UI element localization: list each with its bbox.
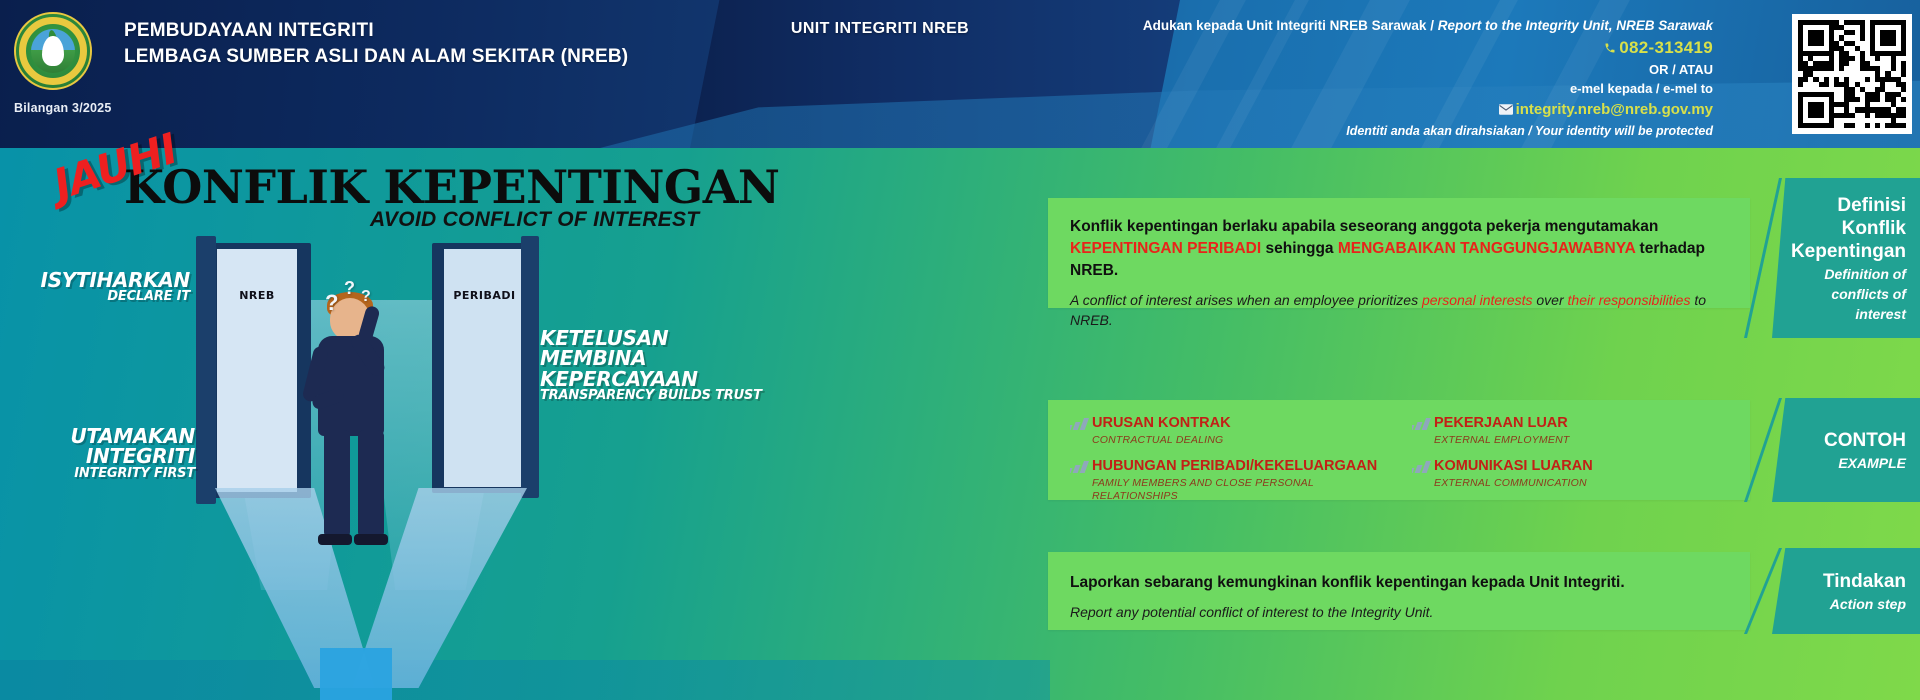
example-grid: URUSAN KONTRAK CONTRACTUAL DEALING HUBUN… [1070,414,1728,512]
action-card: Laporkan sebarang kemungkinan konflik ke… [1048,552,1750,630]
qr-code[interactable] [1792,14,1912,134]
example-tab: CONTOH EXAMPLE [1772,398,1920,502]
example-title-ms: KOMUNIKASI LUARAN [1434,458,1593,474]
definition-en-b: over [1533,292,1568,308]
door-leaf [196,236,216,504]
example-card-body: URUSAN KONTRAK CONTRACTUAL DEALING HUBUN… [1048,400,1750,526]
person-shoe-right [354,534,388,545]
floor-beam-center [320,648,392,700]
definition-ms-red1: KEPENTINGAN PERIBADI [1070,240,1261,257]
example-text: URUSAN KONTRAK CONTRACTUAL DEALING [1092,414,1231,448]
example-item: KOMUNIKASI LUARAN EXTERNAL COMMUNICATION [1412,457,1728,491]
phone-number: 082-313419 [1619,38,1713,57]
caption-transparency: KETELUSAN MEMBINA KEPERCAYAAN TRANSPAREN… [540,328,770,402]
phone-icon [1604,37,1616,62]
caption-declare-ms: ISYTIHARKAN [0,270,190,290]
hero-title: KONFLIK KEPENTINGAN [124,160,779,214]
caption-transparency-ms2: KEPERCAYAAN [540,369,770,389]
definition-ms-red2: MENGABAIKAN TANGGUNGJAWABNYA [1338,240,1635,257]
caption-integrity-ms: UTAMAKAN INTEGRITI [0,426,195,467]
question-mark-1: ? [325,290,338,316]
org-title: PEMBUDAYAAN INTEGRITI LEMBAGA SUMBER ASL… [124,18,628,70]
definition-tab-ms1: Definisi [1837,194,1906,217]
example-card: URUSAN KONTRAK CONTRACTUAL DEALING HUBUN… [1048,400,1750,500]
example-item: PEKERJAAN LUAR EXTERNAL EMPLOYMENT [1412,414,1728,448]
privacy-note: Identiti anda akan dirahsiakan / Your id… [1013,122,1713,140]
example-title-en: EXTERNAL EMPLOYMENT [1434,434,1569,447]
bars-icon [1070,418,1092,430]
definition-text-ms: Konflik kepentingan berlaku apabila sese… [1070,216,1728,282]
definition-tab-en1: Definition of [1824,266,1906,283]
contact-block: Adukan kepada Unit Integriti NREB Sarawa… [1013,16,1713,140]
door-leaf [521,236,539,498]
report-line: Adukan kepada Unit Integriti NREB Sarawa… [1013,16,1713,36]
email-address: integrity.nreb@nreb.gov.my [1516,101,1713,118]
example-text: KOMUNIKASI LUARAN EXTERNAL COMMUNICATION [1434,457,1593,491]
infographic-poster: PEMBUDAYAAN INTEGRITI LEMBAGA SUMBER ASL… [0,0,1920,700]
caption-integrity: UTAMAKAN INTEGRITI INTEGRITY FIRST [0,426,195,480]
door-nreb-open-leaf [196,236,216,504]
caption-integrity-en: INTEGRITY FIRST [0,467,195,480]
report-line-ms: Adukan kepada Unit Integriti NREB Sarawa… [1143,18,1438,33]
door-label-nreb: NREB [203,289,311,302]
caption-declare: ISYTIHARKAN DECLARE IT [0,270,190,304]
action-card-body: Laporkan sebarang kemungkinan konflik ke… [1048,552,1750,643]
example-item: HUBUNGAN PERIBADI/KEKELUARGAAN FAMILY ME… [1070,457,1386,504]
hero-subtitle: AVOID CONFLICT OF INTEREST [370,208,699,232]
example-title-ms: PEKERJAAN LUAR [1434,415,1568,431]
example-text: HUBUNGAN PERIBADI/KEKELUARGAAN FAMILY ME… [1092,457,1386,504]
question-mark-2: ? [344,278,355,299]
person-leg-left [324,430,350,538]
email-row[interactable]: integrity.nreb@nreb.gov.my [1013,99,1713,122]
caption-transparency-ms1: KETELUSAN MEMBINA [540,328,770,369]
bars-icon [1070,461,1092,473]
caption-transparency-en: TRANSPARENCY BUILDS TRUST [540,389,770,402]
example-title-ms: URUSAN KONTRAK [1092,415,1231,431]
person-illustration [300,288,410,548]
email-label: e-mel kepada / e-mel to [1013,80,1713,99]
bars-icon [1412,418,1434,430]
definition-en-red2: their responsibilities [1568,292,1691,308]
page-header: PEMBUDAYAAN INTEGRITI LEMBAGA SUMBER ASL… [0,0,1920,148]
definition-tab-en3: interest [1855,306,1906,323]
action-tab-ms: Tindakan [1823,570,1906,593]
definition-tab-ms3: Kepentingan [1791,240,1906,263]
door-nreb[interactable]: NREB [203,243,311,498]
example-column-left: URUSAN KONTRAK CONTRACTUAL DEALING HUBUN… [1070,414,1386,512]
issue-number: Bilangan 3/2025 [14,101,112,115]
caption-declare-en: DECLARE IT [0,290,190,303]
definition-tab-en2: conflicts of [1831,286,1906,303]
action-text-en: Report any potential conflict of interes… [1070,603,1728,623]
report-line-en: Report to the Integrity Unit, NREB Saraw… [1438,18,1713,33]
or-label: OR / ATAU [1013,61,1713,80]
door-peribadi-open-leaf [521,236,539,498]
hand-icon [42,36,64,66]
org-title-line1: PEMBUDAYAAN INTEGRITI [124,18,628,44]
example-tab-en: EXAMPLE [1838,455,1906,472]
action-tab: Tindakan Action step [1772,548,1920,634]
nreb-logo [14,12,92,90]
example-title-ms: HUBUNGAN PERIBADI/KEKELUARGAAN [1092,458,1377,474]
definition-tab: Definisi Konflik Kepentingan Definition … [1772,178,1920,338]
definition-card-body: Konflik kepentingan berlaku apabila sese… [1048,198,1750,349]
example-column-right: PEKERJAAN LUAR EXTERNAL EMPLOYMENT KOMUN… [1412,414,1728,512]
definition-ms-a: Konflik kepentingan berlaku apabila sese… [1070,218,1658,235]
bars-icon [1412,461,1434,473]
definition-card: Konflik kepentingan berlaku apabila sese… [1048,198,1750,308]
example-item: URUSAN KONTRAK CONTRACTUAL DEALING [1070,414,1386,448]
person-shoe-left [318,534,352,545]
door-panel [217,249,297,492]
question-mark-3: ? [361,288,371,306]
definition-en-red1: personal interests [1422,292,1533,308]
action-tab-en: Action step [1830,596,1906,613]
example-title-en: CONTRACTUAL DEALING [1092,434,1231,447]
door-panel [444,249,523,487]
example-text: PEKERJAAN LUAR EXTERNAL EMPLOYMENT [1434,414,1569,448]
qr-grid [1798,20,1906,128]
envelope-icon [1499,100,1513,122]
org-title-line2: LEMBAGA SUMBER ASLI DAN ALAM SEKITAR (NR… [124,44,628,70]
person-leg-right [358,430,384,538]
definition-en-a: A conflict of interest arises when an em… [1070,292,1422,308]
example-title-en: FAMILY MEMBERS AND CLOSE PERSONAL RELATI… [1092,477,1386,503]
definition-tab-ms2: Konflik [1842,217,1906,240]
definition-ms-b: sehingga [1261,240,1338,257]
definition-text-en: A conflict of interest arises when an em… [1070,291,1728,331]
phone-row[interactable]: 082-313419 [1013,36,1713,62]
example-title-en: EXTERNAL COMMUNICATION [1434,477,1593,490]
action-text-ms: Laporkan sebarang kemungkinan konflik ke… [1070,572,1728,594]
example-tab-ms: CONTOH [1824,429,1906,452]
